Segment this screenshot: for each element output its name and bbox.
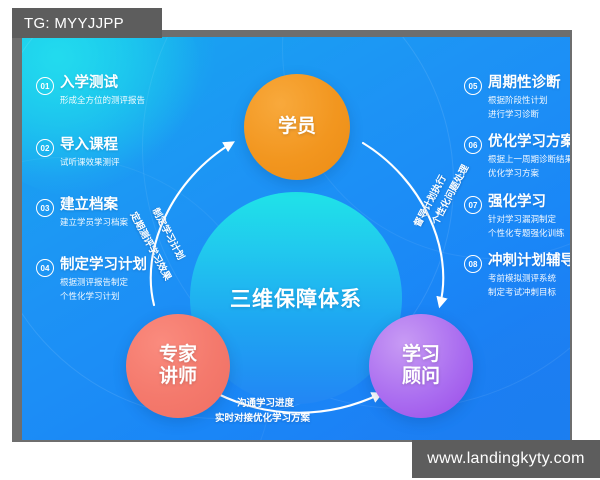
step-desc-07-line2: 个性化专题强化训练	[488, 227, 565, 239]
step-number-07: 07	[464, 196, 482, 214]
watermark-top-left: TG: MYYJJPP	[12, 8, 162, 38]
bubble-teacher-line2: 讲师	[159, 366, 197, 388]
step-title-05: 周期性诊断	[488, 75, 561, 92]
step-title-03: 建立档案	[60, 197, 128, 214]
step-desc-05-line1: 根据阶段性计划	[488, 94, 561, 106]
step-title-02: 导入课程	[60, 137, 120, 154]
core-label: 三维保障体系	[230, 283, 362, 313]
bubble-advisor-line2: 顾问	[402, 366, 440, 388]
step-title-06: 优化学习方案	[488, 134, 570, 151]
step-number-06: 06	[464, 136, 482, 154]
step-number-04: 04	[36, 259, 54, 277]
step-number-05: 05	[464, 77, 482, 95]
step-item-07[interactable]: 07 强化学习 针对学习漏洞制定 个性化专题强化训练	[464, 194, 565, 239]
infographic-canvas: 三维保障体系 学员 专家 讲师 学习 顾问 定期测评学习效果 制定学习计划 督导…	[0, 0, 600, 480]
step-number-01: 01	[36, 77, 54, 95]
step-desc-04-line2: 个性化学习计划	[60, 290, 147, 302]
step-number-03: 03	[36, 199, 54, 217]
arc-label-bottom-line2: 实时对接优化学习方案	[215, 410, 310, 424]
step-item-08[interactable]: 08 冲刺计划辅导 考前模拟测评系统 制定考试冲刺目标	[464, 253, 570, 298]
step-desc-08-line2: 制定考试冲刺目标	[488, 286, 570, 298]
step-desc-01-line1: 形成全方位的测评报告	[60, 94, 145, 106]
step-item-02[interactable]: 02 导入课程 试听课效果测评	[36, 137, 120, 168]
watermark-bottom-right-text: www.landingkyty.com	[427, 450, 584, 468]
step-desc-06-line1: 根据上一周期诊断结果	[488, 153, 570, 165]
bubble-study-advisor[interactable]: 学习 顾问	[369, 314, 473, 418]
step-item-05[interactable]: 05 周期性诊断 根据阶段性计划 进行学习诊断	[464, 75, 561, 120]
step-title-04: 制定学习计划	[60, 257, 147, 274]
step-number-08: 08	[464, 255, 482, 273]
step-title-01: 入学测试	[60, 75, 145, 92]
step-desc-05-line2: 进行学习诊断	[488, 108, 561, 120]
bubble-expert-teacher[interactable]: 专家 讲师	[126, 314, 230, 418]
arc-label-bottom-line1: 沟通学习进度	[237, 395, 294, 409]
step-desc-02-line1: 试听课效果测评	[60, 156, 120, 168]
bubble-student[interactable]: 学员	[244, 74, 350, 180]
step-item-04[interactable]: 04 制定学习计划 根据测评报告制定 个性化学习计划	[36, 257, 147, 302]
step-desc-03-line1: 建立学员学习档案	[60, 216, 128, 228]
step-item-06[interactable]: 06 优化学习方案 根据上一周期诊断结果 优化学习方案	[464, 134, 570, 179]
step-desc-04-line1: 根据测评报告制定	[60, 276, 147, 288]
step-title-07: 强化学习	[488, 194, 565, 211]
watermark-bottom-right: www.landingkyty.com	[412, 440, 600, 478]
step-desc-06-line2: 优化学习方案	[488, 167, 570, 179]
infographic-panel: 三维保障体系 学员 专家 讲师 学习 顾问 定期测评学习效果 制定学习计划 督导…	[22, 37, 570, 440]
step-desc-08-line1: 考前模拟测评系统	[488, 272, 570, 284]
step-title-08: 冲刺计划辅导	[488, 253, 570, 270]
bubble-advisor-line1: 学习	[402, 344, 440, 366]
bubble-teacher-line1: 专家	[159, 344, 197, 366]
watermark-top-left-text: TG: MYYJJPP	[24, 15, 124, 32]
step-number-02: 02	[36, 139, 54, 157]
step-item-01[interactable]: 01 入学测试 形成全方位的测评报告	[36, 75, 145, 106]
bubble-student-line1: 学员	[278, 116, 316, 138]
step-item-03[interactable]: 03 建立档案 建立学员学习档案	[36, 197, 128, 228]
step-desc-07-line1: 针对学习漏洞制定	[488, 213, 565, 225]
background-glow	[22, 37, 202, 197]
